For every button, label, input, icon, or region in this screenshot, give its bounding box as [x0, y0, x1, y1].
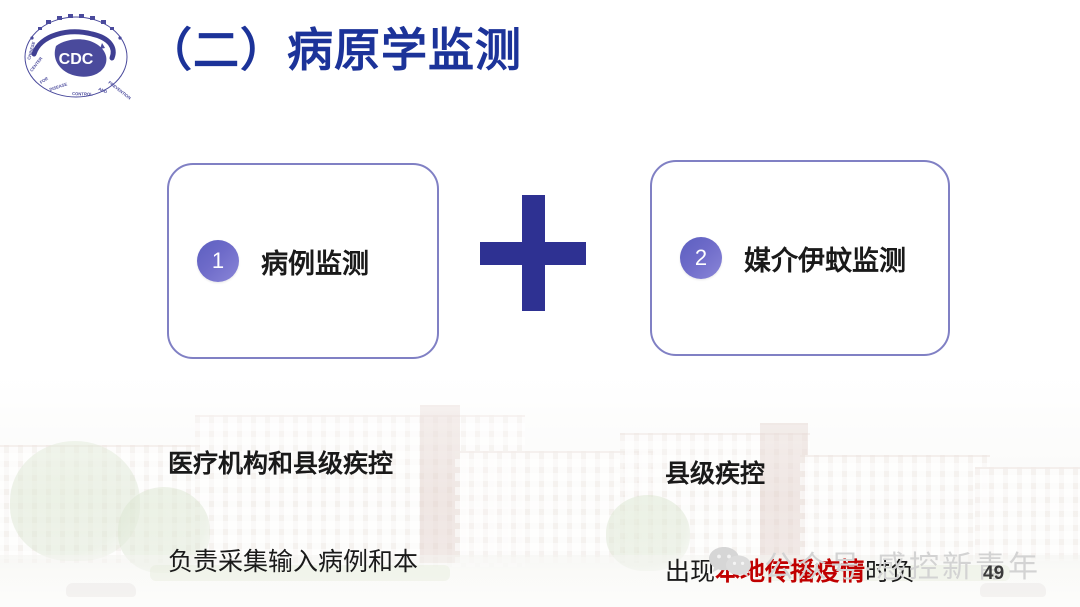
card-case-surveillance[interactable]: 1 病例监测 [167, 163, 439, 359]
description-2-line-1-suffix: 时负 [865, 558, 915, 586]
description-1-line-1-text: 负责采集输入病例和本 [168, 548, 418, 576]
photo-building-wing [455, 451, 655, 563]
background-campus-photo [0, 367, 1080, 607]
description-1-heading: 医疗机构和县级疾控 [168, 448, 418, 481]
plus-vertical-bar [522, 195, 545, 311]
description-2-highlight: 本地传播疫情 [715, 558, 865, 586]
photo-white-overlay [0, 367, 1080, 607]
card-label-1: 病例监测 [261, 242, 369, 281]
card-content: 1 病例监测 [169, 240, 369, 282]
photo-car-left [66, 583, 136, 597]
description-block-2: 县级疾控 出现本地传播疫情时负 责采集媒介伊蚊样本 [665, 393, 915, 607]
svg-text:CONTROL: CONTROL [72, 91, 93, 97]
card-vector-surveillance[interactable]: 2 媒介伊蚊监测 [650, 160, 950, 356]
photo-ground [0, 555, 1080, 607]
photo-building-mid [420, 405, 460, 563]
card-badge-2: 2 [680, 237, 722, 279]
slide-canvas: CDC CHINESE CENTER FOR DISEASE CONTROL A… [0, 0, 1080, 607]
description-2-heading: 县级疾控 [665, 458, 915, 491]
svg-text:DISEASE: DISEASE [49, 81, 68, 92]
svg-text:PREVENTION: PREVENTION [107, 80, 132, 101]
plus-icon [480, 195, 586, 311]
card-label-2: 媒介伊蚊监测 [744, 239, 906, 278]
page-title: （二）病原学监测 [146, 24, 522, 77]
description-1-line-1: 负责采集输入病例和本 [168, 546, 418, 579]
description-2-line-1: 出现本地传播疫情时负 [665, 556, 915, 589]
photo-sky [0, 367, 1080, 607]
card-badge-1: 1 [197, 240, 239, 282]
card-content: 2 媒介伊蚊监测 [652, 237, 906, 279]
photo-car-right [980, 583, 1046, 597]
svg-text:FOR: FOR [39, 76, 49, 85]
page-number: 49 [983, 563, 1004, 585]
description-2-line-1-prefix: 出现 [665, 558, 715, 586]
photo-building-edge [975, 467, 1080, 561]
photo-tree-left [10, 441, 140, 561]
china-cdc-logo: CDC CHINESE CENTER FOR DISEASE CONTROL A… [16, 10, 136, 104]
description-block-1: 医疗机构和县级疾控 负责采集输入病例和本 地病例急性期血清样本 [168, 383, 418, 607]
svg-text:CDC: CDC [59, 51, 94, 68]
